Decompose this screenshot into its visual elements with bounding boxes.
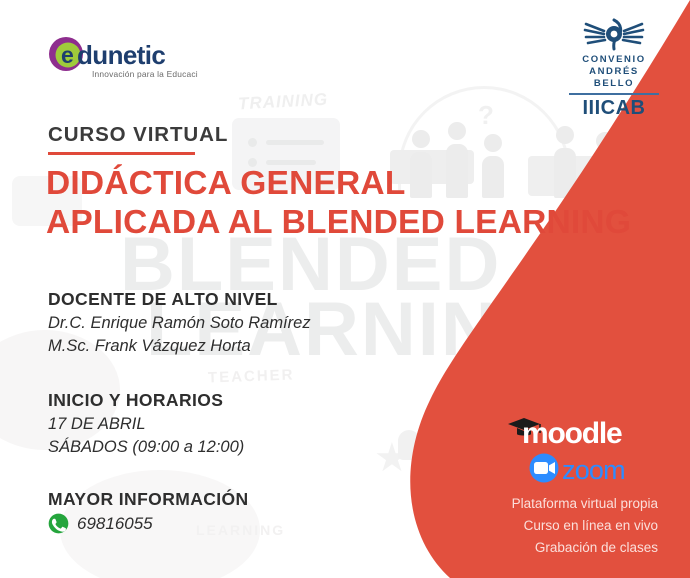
section-horarios: INICIO Y HORARIOS 17 DE ABRIL SÁBADOS (0… bbox=[48, 390, 244, 460]
cab-line-convenio: CONVENIO bbox=[566, 54, 662, 66]
title-line-1: DIDÁCTICA GENERAL bbox=[46, 165, 631, 204]
section-docente-heading: DOCENTE DE ALTO NIVEL bbox=[48, 289, 311, 310]
watermark-line bbox=[266, 140, 324, 145]
docente-name-2: M.Sc. Frank Vázquez Horta bbox=[48, 335, 311, 358]
course-flyer: BLENDED LEARNING TRAINING TEACHER LEARNI… bbox=[0, 0, 690, 578]
zoom-camera-icon bbox=[530, 454, 559, 483]
kicker-underline bbox=[48, 152, 195, 155]
cab-emblem-icon bbox=[566, 18, 662, 52]
cab-line-andres: ANDRÉS bbox=[566, 66, 662, 78]
watermark-teacher-text: TEACHER bbox=[208, 366, 295, 386]
section-contacto: MAYOR INFORMACIÓN 69816055 bbox=[48, 489, 249, 534]
docente-name-1: Dr.C. Enrique Ramón Soto Ramírez bbox=[48, 312, 311, 335]
panel-note-2: Curso en línea en vivo bbox=[428, 515, 658, 537]
moodle-logo: moodle bbox=[500, 412, 658, 446]
svg-text:e: e bbox=[61, 42, 74, 68]
whatsapp-icon bbox=[48, 513, 69, 534]
svg-text:dunetic: dunetic bbox=[77, 40, 165, 70]
whatsapp-contact-row[interactable]: 69816055 bbox=[48, 513, 249, 534]
cab-logo: CONVENIO ANDRÉS BELLO IIICAB bbox=[566, 18, 662, 120]
edunetic-logo: e dunetic Innovación para la Educación bbox=[48, 36, 198, 80]
cab-wordmark: CONVENIO ANDRÉS BELLO bbox=[566, 54, 662, 90]
section-contacto-heading: MAYOR INFORMACIÓN bbox=[48, 489, 249, 510]
horarios-schedule: SÁBADOS (09:00 a 12:00) bbox=[48, 436, 244, 459]
course-kicker: CURSO VIRTUAL bbox=[48, 123, 228, 147]
panel-note-3: Grabación de clases bbox=[428, 537, 658, 559]
section-horarios-heading: INICIO Y HORARIOS bbox=[48, 390, 244, 411]
svg-text:moodle: moodle bbox=[522, 417, 622, 446]
watermark-training-text: TRAINING bbox=[238, 90, 329, 115]
zoom-logo: zoom bbox=[500, 452, 658, 484]
page-title: DIDÁCTICA GENERAL APLICADA AL BLENDED LE… bbox=[46, 165, 631, 243]
panel-feature-notes: Plataforma virtual propia Curso en línea… bbox=[428, 493, 658, 559]
cab-line-bello: BELLO bbox=[566, 78, 662, 90]
horarios-start-date: 17 DE ABRIL bbox=[48, 413, 244, 436]
watermark-bullet-icon bbox=[248, 138, 257, 147]
svg-text:zoom: zoom bbox=[562, 455, 625, 484]
cab-acronym: IIICAB bbox=[566, 97, 662, 120]
whatsapp-phone-number[interactable]: 69816055 bbox=[77, 514, 153, 534]
section-docente: DOCENTE DE ALTO NIVEL Dr.C. Enrique Ramó… bbox=[48, 289, 311, 359]
cab-divider bbox=[569, 93, 659, 95]
title-line-2: APLICADA AL BLENDED LEARNING bbox=[46, 204, 631, 243]
panel-note-1: Plataforma virtual propia bbox=[428, 493, 658, 515]
edunetic-tagline-text: Innovación para la Educación bbox=[92, 69, 198, 79]
